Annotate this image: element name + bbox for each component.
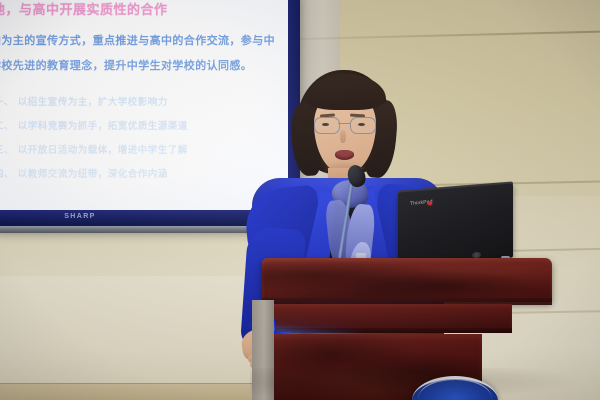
slide-body-line-1: 向为主的宣传方式，重点推进与高中的合作交流，参与中: [0, 32, 275, 48]
thinkpad-logo-dot: [428, 201, 432, 205]
microphone-gooseneck: [338, 181, 354, 259]
slide-faint-line-3: 三、 以开放日活动为载体，增进中学生了解: [0, 142, 188, 156]
glasses-bridge: [338, 123, 350, 124]
podium-top-slab: [262, 258, 552, 302]
floor-shadow: [250, 368, 580, 400]
slide-body-line-2: 学校先进的教育理念，提升中学生对学校的认同感。: [0, 57, 252, 73]
lens-right: [350, 117, 376, 134]
laptop-lid: [398, 183, 513, 266]
sharp-logo: SHARP: [56, 212, 104, 221]
slide-faint-line-4: 四、 以教师交流为纽带，深化合作内涵: [0, 166, 168, 180]
mouth: [335, 150, 354, 160]
slide-faint-line-1: 一、 以招生宣传为主，扩大学校影响力: [0, 94, 168, 108]
slide-faint-line-2: 二、 以学科竞赛为抓手，拓宽优质生源渠道: [0, 118, 188, 132]
lens-left: [314, 117, 340, 134]
slide-title: 地，与高中开展实质性的合作: [0, 0, 168, 18]
podium-mid-lip: [268, 328, 512, 333]
microphone: [330, 165, 390, 273]
nose: [340, 130, 346, 143]
photo-scene: 地，与高中开展实质性的合作 向为主的宣传方式，重点推进与高中的合作交流，参与中 …: [0, 0, 600, 400]
laptop: ThinkPad: [398, 188, 516, 266]
podium-mid-slab: [268, 304, 512, 330]
